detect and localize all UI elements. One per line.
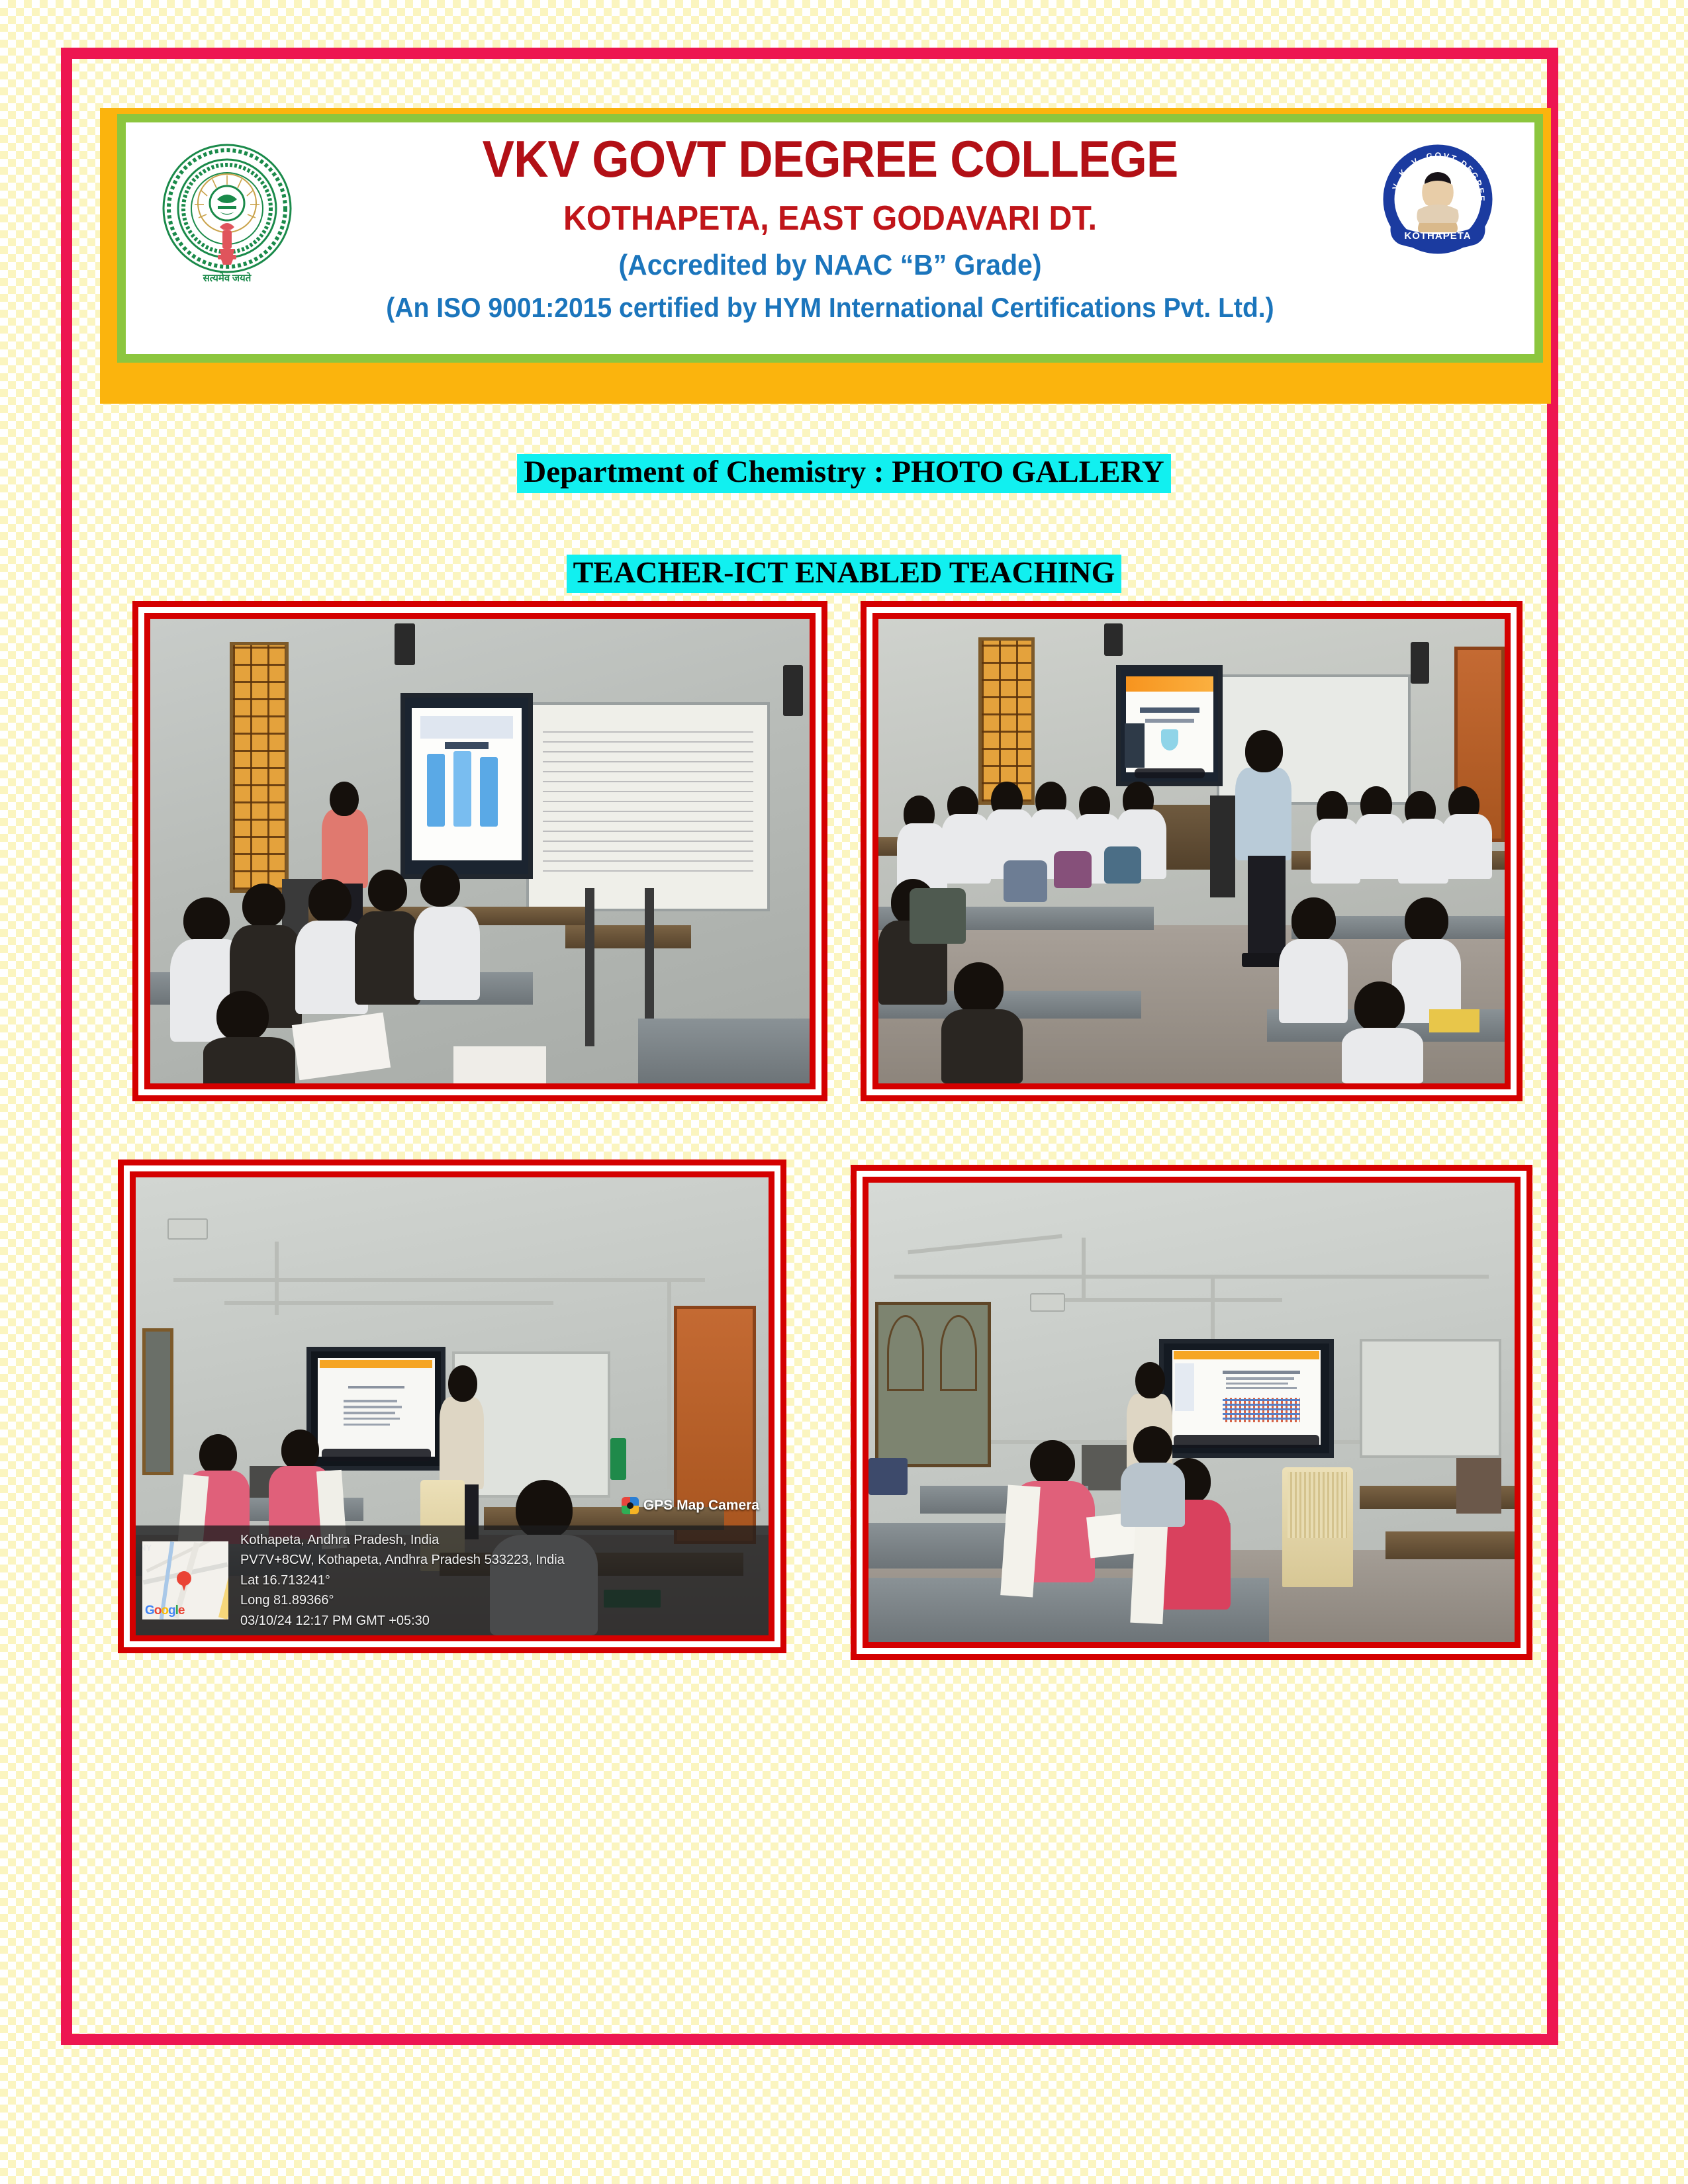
photo-frame-1-white-gap — [138, 607, 821, 1095]
photo-frame-1-inner-red — [144, 613, 816, 1089]
header-green-frame: सत्यमेव जयते KOTHAPETA V. K. — [117, 114, 1543, 363]
google-logo: Google — [145, 1604, 184, 1618]
department-title-row: Department of Chemistry : PHOTO GALLERY — [0, 454, 1688, 493]
header-text-block: VKV GOVT DEGREE COLLEGE KOTHAPETA, EAST … — [126, 133, 1534, 323]
gps-longitude: Long 81.89366° — [240, 1590, 565, 1610]
section-title-row: TEACHER-ICT ENABLED TEACHING — [0, 555, 1688, 593]
classroom-photo-1 — [150, 619, 810, 1083]
college-name: VKV GOVT DEGREE COLLEGE — [175, 133, 1485, 186]
photo-frame-4 — [851, 1165, 1532, 1660]
gps-latitude: Lat 16.713241° — [240, 1570, 565, 1590]
section-title: TEACHER-ICT ENABLED TEACHING — [567, 555, 1122, 593]
photo-frame-3-white-gap: GPS Map Camera ONY Google — [124, 1165, 780, 1647]
gps-map-camera-icon — [622, 1497, 639, 1514]
photo-frame-4-white-gap — [857, 1171, 1526, 1654]
college-accreditation: (Accredited by NAAC “B” Grade) — [175, 250, 1485, 281]
gps-app-name: GPS Map Camera — [643, 1498, 759, 1514]
gps-place: Kothapeta, Andhra Pradesh, India — [240, 1530, 565, 1550]
header-banner: सत्यमेव जयते KOTHAPETA V. K. — [100, 108, 1551, 404]
gps-address: PV7V+8CW, Kothapeta, Andhra Pradesh 5332… — [240, 1550, 565, 1570]
college-place: KOTHAPETA, EAST GODAVARI DT. — [175, 201, 1485, 237]
gps-map-thumbnail: ONY Google — [142, 1541, 228, 1619]
gps-timestamp: 03/10/24 12:17 PM GMT +05:30 — [240, 1611, 565, 1631]
header-white-panel: सत्यमेव जयते KOTHAPETA V. K. — [126, 122, 1534, 354]
photo-frame-3: GPS Map Camera ONY Google — [118, 1160, 786, 1653]
photo-frame-3-inner-red: GPS Map Camera ONY Google — [130, 1171, 774, 1641]
photo-frame-4-inner-red — [863, 1177, 1521, 1648]
gps-map-camera-badge: GPS Map Camera — [622, 1497, 759, 1514]
gps-location-overlay: ONY Google Kothapeta, Andhra Pradesh, In… — [136, 1525, 769, 1635]
college-iso-certification: (An ISO 9001:2015 certified by HYM Inter… — [175, 293, 1485, 323]
classroom-photo-2 — [878, 619, 1505, 1083]
photo-frame-2-inner-red — [872, 613, 1511, 1089]
gps-text-lines: Kothapeta, Andhra Pradesh, India PV7V+8C… — [240, 1530, 565, 1631]
photo-frame-2 — [861, 601, 1523, 1101]
classroom-photo-4 — [868, 1183, 1515, 1642]
map-pin-icon — [177, 1571, 191, 1586]
department-title: Department of Chemistry : PHOTO GALLERY — [517, 454, 1170, 493]
photo-frame-1 — [132, 601, 827, 1101]
map-corner-label: ONY — [142, 1543, 152, 1553]
photo-frame-2-white-gap — [867, 607, 1517, 1095]
classroom-photo-3: GPS Map Camera ONY Google — [136, 1177, 769, 1635]
